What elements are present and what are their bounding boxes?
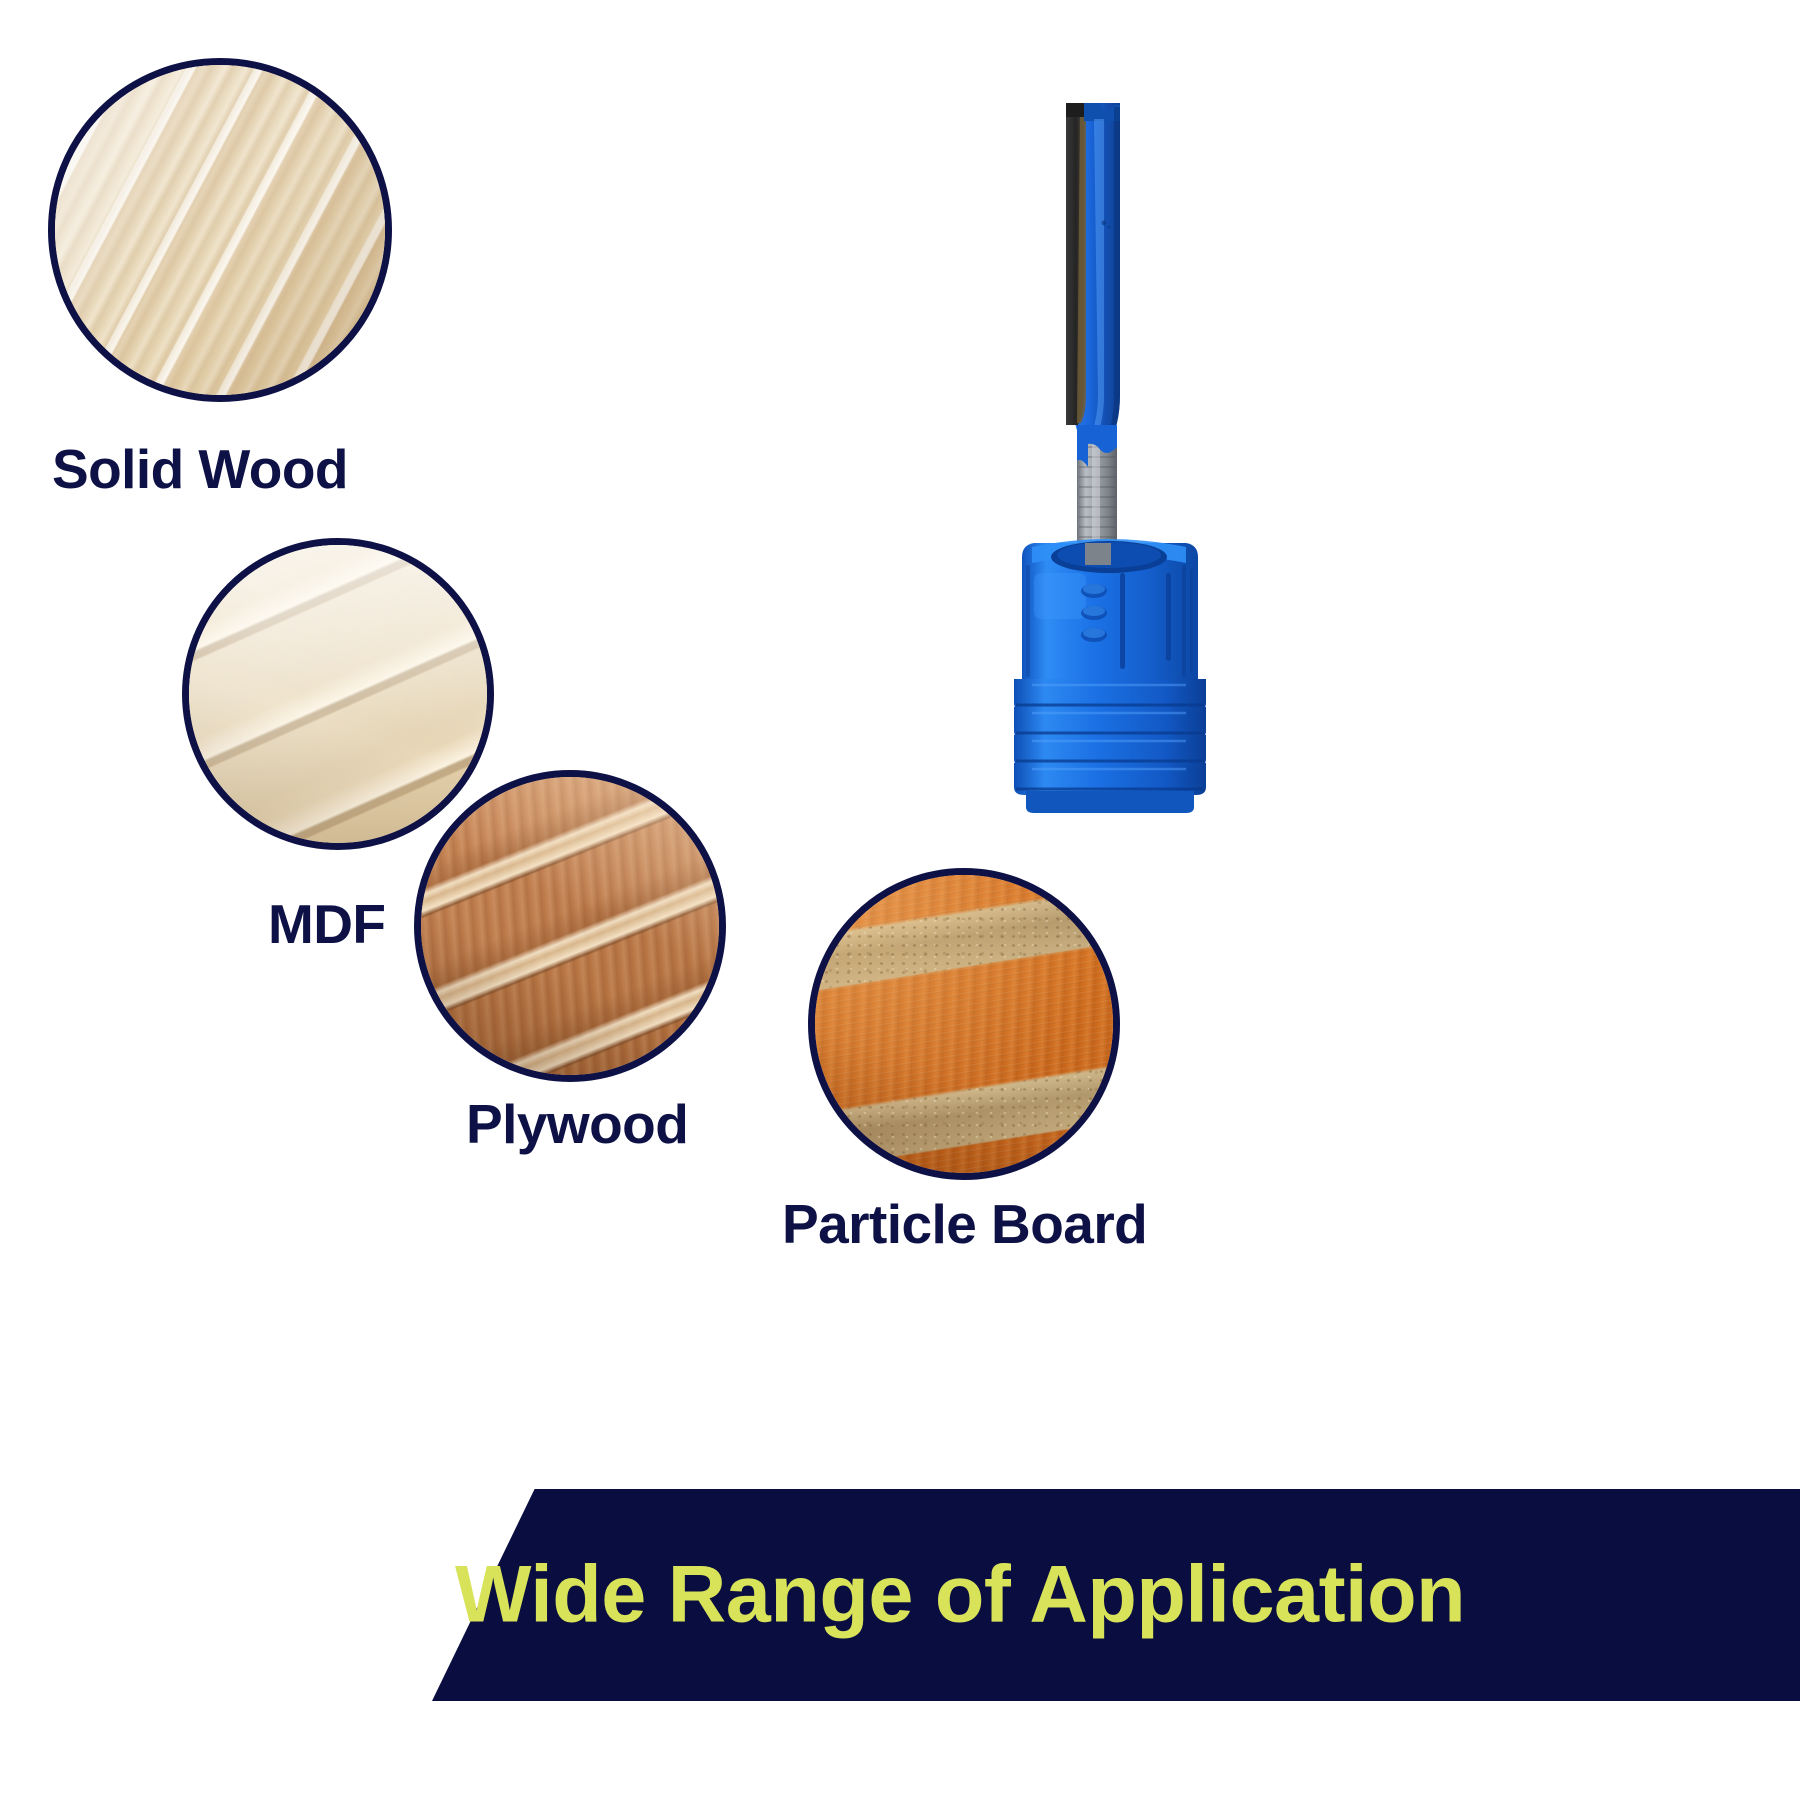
- swatch-plywood: [414, 770, 726, 1082]
- infographic-canvas: Solid Wood MDF Plywood Particle Board: [0, 0, 1800, 1800]
- bit-shank: [1077, 425, 1117, 557]
- router-bit-illustration: [980, 95, 1240, 815]
- bit-cutting-head: [1066, 103, 1120, 447]
- banner-headline: Wide Range of Application: [0, 1549, 1800, 1642]
- plywood-photo: [414, 770, 726, 1082]
- holder-fins: [1014, 679, 1206, 813]
- bit-holder: [1014, 539, 1206, 813]
- swatch-solid-wood: [48, 58, 392, 402]
- label-particle-board: Particle Board: [782, 1192, 1147, 1256]
- product-router-bit: [980, 95, 1240, 815]
- solid-wood-photo: [48, 58, 392, 402]
- label-solid-wood: Solid Wood: [52, 437, 348, 501]
- label-plywood: Plywood: [466, 1092, 688, 1156]
- swatch-particle-board: [808, 868, 1120, 1180]
- banner: Wide Range of Application: [0, 1489, 1800, 1701]
- chipboard-speckle: [808, 868, 1120, 1180]
- label-mdf: MDF: [268, 892, 385, 956]
